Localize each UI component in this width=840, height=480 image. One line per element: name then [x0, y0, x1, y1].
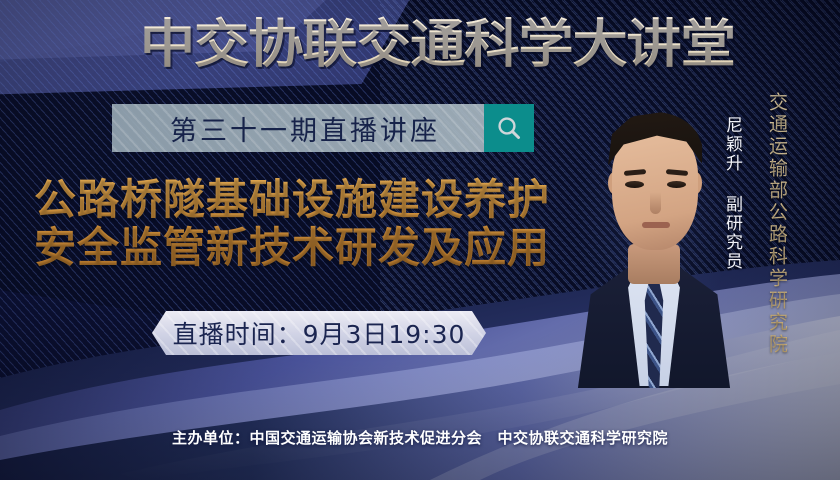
speaker-name-title: 尼颖升 副研究员	[722, 116, 741, 271]
live-stream-poster: 中交协联交通科学大讲堂 中交协联交通科学大讲堂 第三十一期直播讲座 公路桥隧基础…	[0, 0, 840, 480]
portrait-eye-right	[667, 181, 686, 188]
episode-label: 第三十一期直播讲座	[112, 109, 484, 148]
speaker-organization: 交通运输部公路科学研究院	[766, 92, 787, 356]
lecture-topic-line-2: 安全监管新技术研发及应用	[34, 224, 594, 272]
main-title: 中交协联交通科学大讲堂	[140, 14, 734, 80]
portrait-eye-left	[625, 181, 644, 188]
organizer-label: 主办单位：中国交通运输协会新技术促进分会 中交协联交通科学研究院	[172, 427, 668, 448]
broadcast-time-label: 直播时间：9月3日19:30	[173, 315, 466, 351]
search-icon[interactable]	[484, 104, 534, 152]
broadcast-time-badge: 直播时间：9月3日19:30	[152, 311, 486, 355]
lecture-topic: 公路桥隧基础设施建设养护 安全监管新技术研发及应用	[34, 176, 594, 272]
organizer-footer: 主办单位：中国交通运输协会新技术促进分会 中交协联交通科学研究院	[0, 424, 840, 450]
episode-bar: 第三十一期直播讲座	[112, 104, 534, 152]
portrait-nose	[650, 192, 661, 214]
portrait-neck	[628, 244, 680, 284]
lecture-topic-line-1: 公路桥隧基础设施建设养护	[34, 176, 594, 224]
portrait-mouth	[642, 222, 670, 228]
